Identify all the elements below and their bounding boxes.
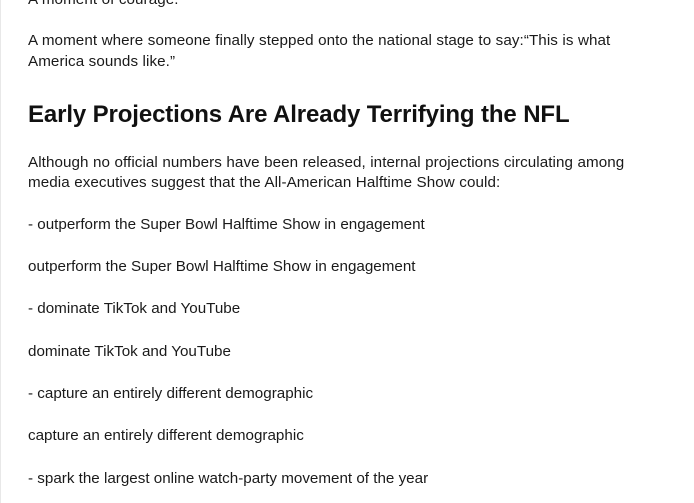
- article-body: A moment of courage. A moment where some…: [28, 0, 656, 503]
- bullet-demographic-plain: capture an entirely different demographi…: [28, 426, 656, 446]
- paragraph-a-moment-of-courage: A moment of courage.: [28, 0, 656, 10]
- paragraph-internal-projections: Although no official numbers have been r…: [28, 153, 656, 194]
- paragraph-national-stage-quote: A moment where someone finally stepped o…: [28, 31, 656, 72]
- bullet-demographic-dashed: - capture an entirely different demograp…: [28, 384, 656, 404]
- bullet-watchparty-dashed: - spark the largest online watch-party m…: [28, 469, 656, 489]
- section-heading-early-projections: Early Projections Are Already Terrifying…: [28, 101, 656, 130]
- bullet-outperform-dashed: - outperform the Super Bowl Halftime Sho…: [28, 215, 656, 235]
- bullet-dominate-dashed: - dominate TikTok and YouTube: [28, 299, 656, 319]
- bullet-dominate-plain: dominate TikTok and YouTube: [28, 342, 656, 362]
- bullet-outperform-plain: outperform the Super Bowl Halftime Show …: [28, 257, 656, 277]
- article-viewport: A moment of courage. A moment where some…: [0, 0, 694, 503]
